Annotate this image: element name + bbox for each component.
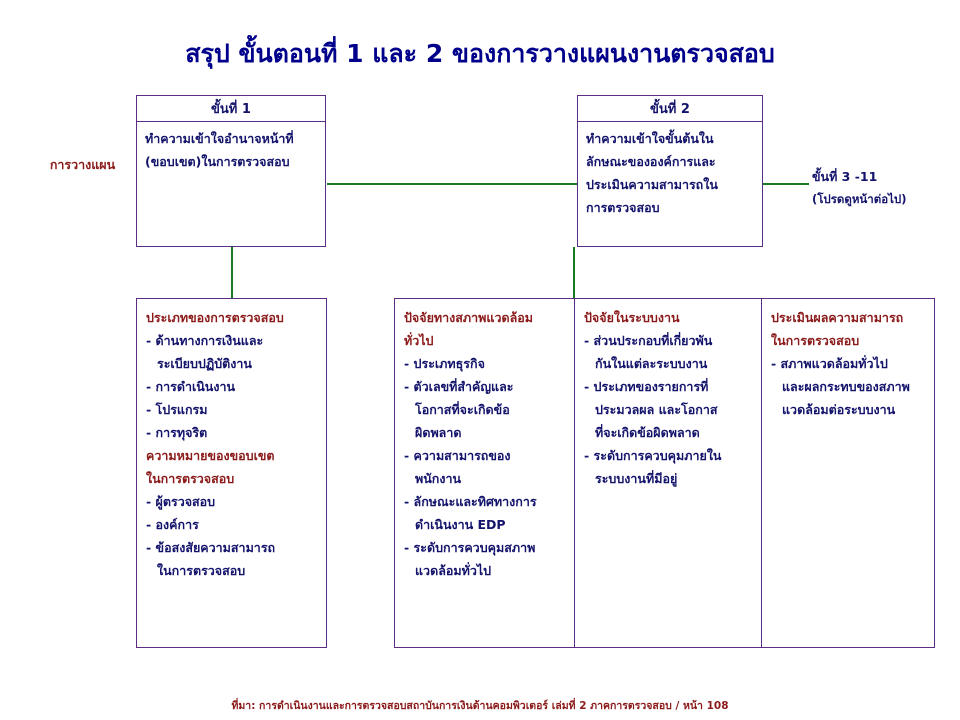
source-footer: ที่มา: การดำเนินงานและการตรวจสอบสถาบันกา… bbox=[0, 697, 960, 714]
step-2-body: ทำความเข้าใจขั้นต้นใน ลักษณะขององค์การแล… bbox=[578, 121, 762, 246]
column-1-item: - ด้านทางการเงินและ bbox=[146, 329, 319, 352]
column-3-item: - ระดับการควบคุมภายใน bbox=[584, 444, 755, 467]
column-2-item: - ความสามารถของ bbox=[404, 444, 568, 467]
column-3-item: ที่จะเกิดข้อผิดพลาด bbox=[584, 421, 755, 444]
step-2-line: ทำความเข้าใจขั้นต้นใน bbox=[586, 127, 754, 150]
label-steps-range: ขั้นที่ 3 -11 bbox=[812, 166, 957, 188]
column-3-item: ระบบงานที่มีอยู่ bbox=[584, 467, 755, 490]
step-2-line: ลักษณะขององค์การและ bbox=[586, 150, 754, 173]
column-2-item: ดำเนินงาน EDP bbox=[404, 513, 568, 536]
column-2-item: โอกาสที่จะเกิดข้อ bbox=[404, 398, 568, 421]
step-2-box: ขั้นที่ 2 ทำความเข้าใจขั้นต้นใน ลักษณะขอ… bbox=[577, 95, 763, 247]
step-1-box: ขั้นที่ 1 ทำความเข้าใจอำนาจหน้าที่ (ขอบเ… bbox=[136, 95, 326, 247]
connector-step2-down bbox=[573, 247, 575, 298]
column-4-item: แวดล้อมต่อระบบงาน bbox=[771, 398, 929, 421]
step-2-header: ขั้นที่ 2 bbox=[578, 96, 762, 122]
column-1-item: - การดำเนินงาน bbox=[146, 375, 319, 398]
detail-box-group: ปัจจัยทางสภาพแวดล้อม ทั่วไป - ประเภทธุรก… bbox=[394, 298, 935, 648]
label-planning: การวางแผน bbox=[30, 155, 135, 175]
column-3-item: - ประเภทของรายการที่ bbox=[584, 375, 755, 398]
column-3-item: - ส่วนประกอบที่เกี่ยวพัน bbox=[584, 329, 755, 352]
label-steps-3-11: ขั้นที่ 3 -11 (โปรดดูหน้าต่อไป) bbox=[812, 166, 957, 210]
step-1-header: ขั้นที่ 1 bbox=[137, 96, 325, 122]
column-2-item: - ประเภทธุรกิจ bbox=[404, 352, 568, 375]
page-title: สรุป ขั้นตอนที่ 1 และ 2 ของการวางแผนงานต… bbox=[0, 34, 960, 74]
column-1-heading: ประเภทของการตรวจสอบ bbox=[146, 306, 319, 329]
column-1-content: ประเภทของการตรวจสอบ - ด้านทางการเงินและ … bbox=[137, 299, 326, 582]
column-2-item: พนักงาน bbox=[404, 467, 568, 490]
column-3-heading: ปัจจัยในระบบงาน bbox=[584, 306, 755, 329]
column-2-item: - ระดับการควบคุมสภาพ bbox=[404, 536, 568, 559]
diagram-canvas: สรุป ขั้นตอนที่ 1 และ 2 ของการวางแผนงานต… bbox=[0, 0, 960, 720]
column-1-item: - องค์การ bbox=[146, 513, 319, 536]
column-3-item: ประมวลผล และโอกาส bbox=[584, 398, 755, 421]
column-1-item: - ข้อสงสัยความสามารถ bbox=[146, 536, 319, 559]
column-1-item: ระเบียบปฏิบัติงาน bbox=[146, 352, 319, 375]
label-steps-note: (โปรดดูหน้าต่อไป) bbox=[812, 188, 957, 210]
column-1-subheading: ในการตรวจสอบ bbox=[146, 467, 319, 490]
step-1-line: (ขอบเขต)ในการตรวจสอบ bbox=[145, 150, 317, 173]
connector-step1-step2 bbox=[327, 183, 577, 185]
column-general-environment-factors: ปัจจัยทางสภาพแวดล้อม ทั่วไป - ประเภทธุรก… bbox=[395, 299, 575, 647]
column-2-item: - ลักษณะและทิศทางการ bbox=[404, 490, 568, 513]
column-2-item: แวดล้อมทั่วไป bbox=[404, 559, 568, 582]
column-1-subheading: ความหมายของขอบเขต bbox=[146, 444, 319, 467]
column-1-item: ในการตรวจสอบ bbox=[146, 559, 319, 582]
column-auditability-assessment: ประเมินผลความสามารถ ในการตรวจสอบ - สภาพแ… bbox=[762, 299, 936, 647]
column-2-heading: ทั่วไป bbox=[404, 329, 568, 352]
column-2-heading: ปัจจัยทางสภาพแวดล้อม bbox=[404, 306, 568, 329]
column-1-item: - โปรแกรม bbox=[146, 398, 319, 421]
connector-step1-down bbox=[231, 247, 233, 298]
step-2-line: การตรวจสอบ bbox=[586, 196, 754, 219]
column-1-item: - การทุจริต bbox=[146, 421, 319, 444]
column-2-item: ผิดพลาด bbox=[404, 421, 568, 444]
connector-step2-next bbox=[763, 183, 809, 185]
column-3-item: กันในแต่ละระบบงาน bbox=[584, 352, 755, 375]
detail-box-audit-types: ประเภทของการตรวจสอบ - ด้านทางการเงินและ … bbox=[136, 298, 327, 648]
column-4-heading: ประเมินผลความสามารถ bbox=[771, 306, 929, 329]
column-4-item: - สภาพแวดล้อมทั่วไป bbox=[771, 352, 929, 375]
column-4-item: และผลกระทบของสภาพ bbox=[771, 375, 929, 398]
column-system-factors: ปัจจัยในระบบงาน - ส่วนประกอบที่เกี่ยวพัน… bbox=[575, 299, 762, 647]
step-1-body: ทำความเข้าใจอำนาจหน้าที่ (ขอบเขต)ในการตร… bbox=[137, 121, 325, 246]
column-4-heading: ในการตรวจสอบ bbox=[771, 329, 929, 352]
step-1-line: ทำความเข้าใจอำนาจหน้าที่ bbox=[145, 127, 317, 150]
step-2-line: ประเมินความสามารถใน bbox=[586, 173, 754, 196]
column-2-item: - ตัวเลขที่สำคัญและ bbox=[404, 375, 568, 398]
column-1-item: - ผู้ตรวจสอบ bbox=[146, 490, 319, 513]
